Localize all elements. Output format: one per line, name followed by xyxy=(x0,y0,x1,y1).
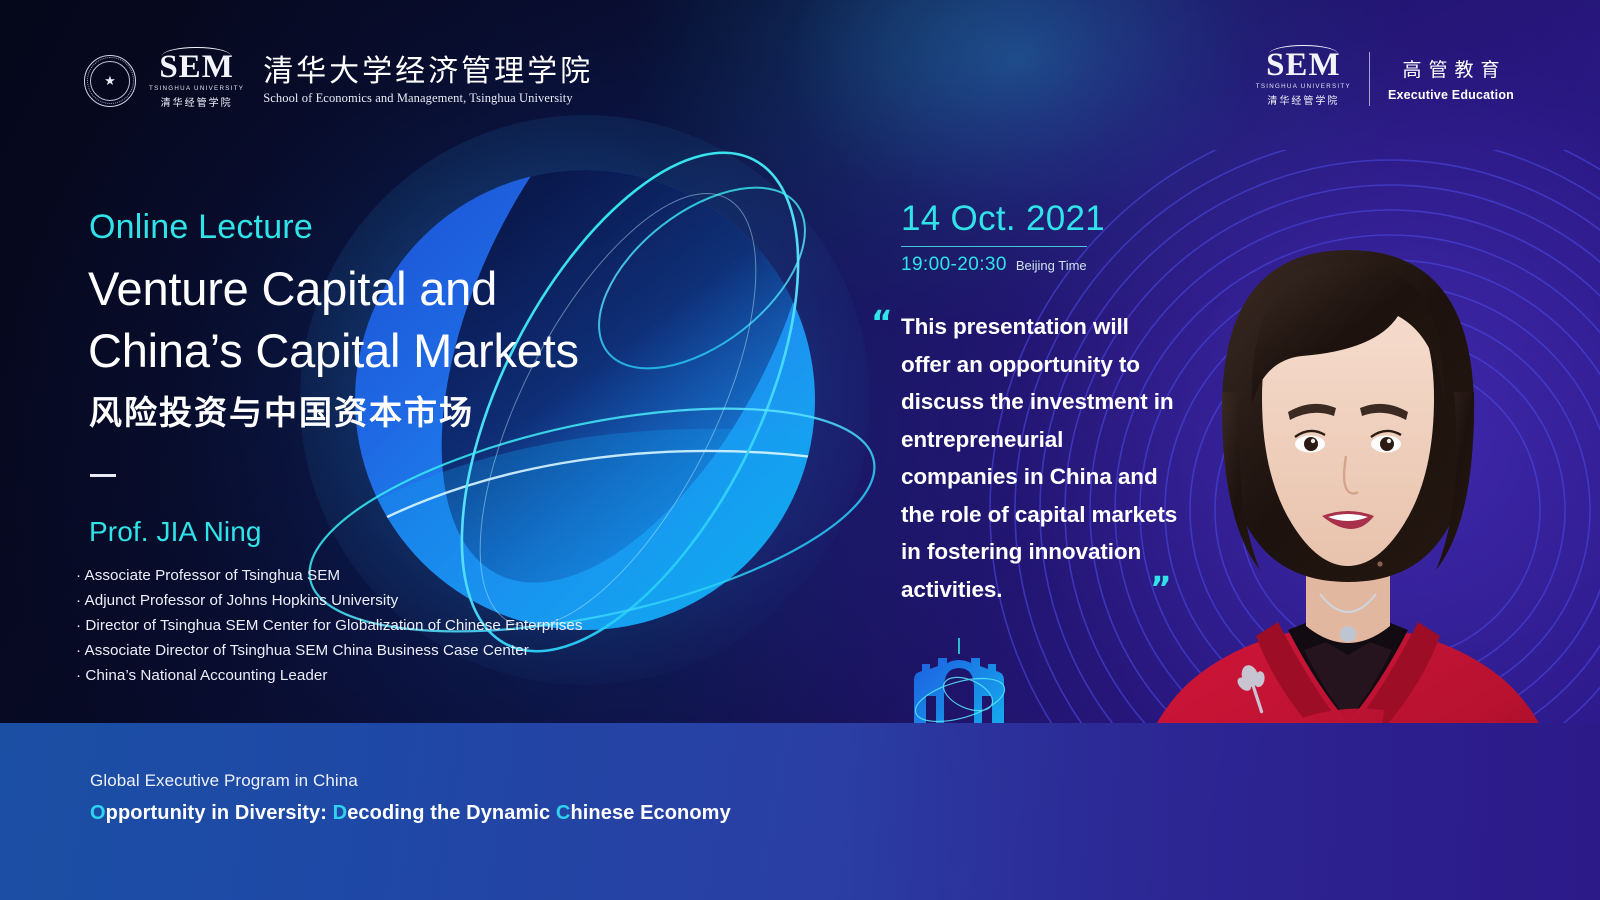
sem-chinese-name-right: 清华经管学院 xyxy=(1267,92,1339,107)
sem-subtitle-right: TSINGHUA UNIVERSITY xyxy=(1256,83,1351,90)
school-name-cn: 清华大学经济管理学院 xyxy=(263,55,593,88)
banner-highlight-letter: D xyxy=(333,802,348,824)
banner-text-segment: hinese Economy xyxy=(570,802,730,824)
credential-item: Adjunct Professor of Johns Hopkins Unive… xyxy=(76,588,583,613)
credential-item: Associate Director of Tsinghua SEM China… xyxy=(76,638,583,663)
executive-education-logo: SEM TSINGHUA UNIVERSITY 清华经管学院 高管教育 Exec… xyxy=(1256,50,1514,107)
divider-dash xyxy=(90,474,116,477)
banner-highlight-letter: O xyxy=(90,802,106,824)
title-line-2: China’s Capital Markets xyxy=(88,320,579,382)
bottom-banner: Global Executive Program in China Opport… xyxy=(0,723,1600,900)
banner-line-2: Opportunity in Diversity: Decoding the D… xyxy=(90,802,731,825)
executive-education-block: 高管教育 Executive Education xyxy=(1388,55,1514,102)
lecture-kicker: Online Lecture xyxy=(89,208,313,247)
poster-canvas: SEM TSINGHUA UNIVERSITY 清华经管学院 清华大学经济管理学… xyxy=(0,0,1600,900)
sem-mark: SEM TSINGHUA UNIVERSITY 清华经管学院 xyxy=(149,52,244,109)
banner-gradient-overlay xyxy=(845,723,1600,900)
school-name-block: 清华大学经济管理学院 School of Economics and Manag… xyxy=(263,55,593,106)
tsinghua-sem-logo: SEM TSINGHUA UNIVERSITY 清华经管学院 清华大学经济管理学… xyxy=(84,52,593,109)
banner-text-segment: ecoding the Dynamic xyxy=(347,802,556,824)
school-name-en: School of Economics and Management, Tsin… xyxy=(263,91,593,106)
tsinghua-seal-icon xyxy=(84,55,136,107)
credential-item: Director of Tsinghua SEM Center for Glob… xyxy=(76,613,583,638)
page-title: Venture Capital and China’s Capital Mark… xyxy=(88,258,579,381)
event-time-row: 19:00-20:30 Beijing Time xyxy=(901,254,1087,276)
program-name-cn: 高管教育 xyxy=(1395,55,1506,82)
speaker-name: Prof. JIA Ning xyxy=(89,516,262,548)
banner-text-segment: pportunity in Diversity: xyxy=(106,802,333,824)
title-line-1: Venture Capital and xyxy=(88,258,579,320)
speaker-credentials-list: Associate Professor of Tsinghua SEMAdjun… xyxy=(76,563,583,688)
page-title-chinese: 风险投资与中国资本市场 xyxy=(89,386,474,434)
event-date: 14 Oct. 2021 xyxy=(901,199,1105,239)
sem-mark-right: SEM TSINGHUA UNIVERSITY 清华经管学院 xyxy=(1256,50,1351,107)
logo-divider xyxy=(1369,52,1370,106)
banner-content: Global Executive Program in China Opport… xyxy=(90,771,731,825)
date-divider xyxy=(901,246,1087,247)
banner-line-1: Global Executive Program in China xyxy=(90,771,731,791)
banner-highlight-letter: C xyxy=(556,802,571,824)
sem-subtitle: TSINGHUA UNIVERSITY xyxy=(149,85,244,92)
credential-item: Associate Professor of Tsinghua SEM xyxy=(76,563,583,588)
sem-wordmark: SEM xyxy=(159,52,234,83)
sem-chinese-name: 清华经管学院 xyxy=(161,94,233,109)
sem-wordmark-right: SEM xyxy=(1266,50,1341,81)
credential-item: China’s National Accounting Leader xyxy=(76,663,583,688)
event-timezone: Beijing Time xyxy=(1016,258,1087,273)
quote-open-icon: “ xyxy=(871,306,893,339)
event-time: 19:00-20:30 xyxy=(901,254,1007,276)
program-name-en: Executive Education xyxy=(1388,88,1514,102)
